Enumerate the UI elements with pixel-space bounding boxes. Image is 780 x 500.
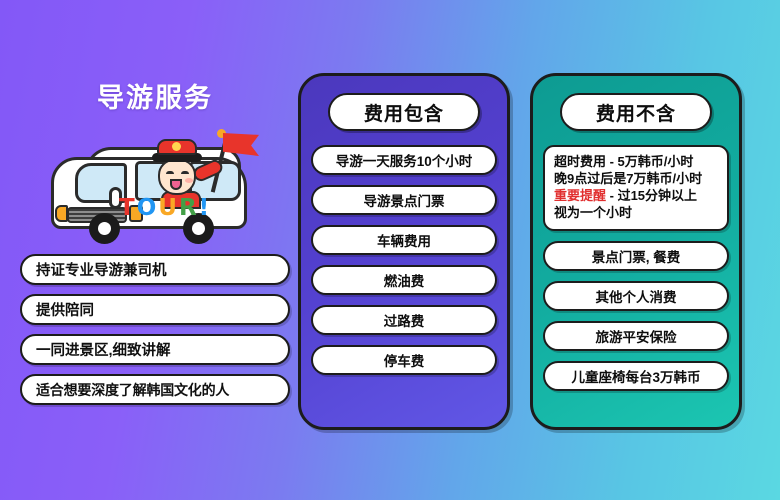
list-item[interactable]: 导游一天服务10个小时 — [311, 145, 497, 175]
list-item[interactable]: 持证专业导游兼司机 — [20, 254, 290, 285]
important-alert-label: 重要提醒 — [554, 188, 606, 203]
tour-letter-0: T — [119, 195, 137, 221]
tour-letter-2: U — [158, 195, 179, 221]
tour-letter-1: O — [137, 195, 159, 221]
tour-letter-3: R — [179, 195, 199, 221]
card-heading-excluded: 费用不含 — [560, 93, 712, 131]
fees-included-card: 费用包含 导游一天服务10个小时 导游景点门票 车辆费用 燃油费 过路费 停车费 — [298, 73, 510, 430]
list-item[interactable]: 停车费 — [311, 345, 497, 375]
list-item[interactable]: 导游景点门票 — [311, 185, 497, 215]
guide-feature-list: 持证专业导游兼司机 提供陪同 一同进景区,细致讲解 适合想要深度了解韩国文化的人 — [20, 254, 290, 414]
tour-wordmark: TOUR! — [119, 195, 211, 221]
note-line-2: 晚9点过后是7万韩币/小时 — [554, 170, 719, 187]
list-item[interactable]: 旅游平安保险 — [543, 321, 729, 351]
driver-eye-left — [166, 171, 174, 174]
list-item[interactable]: 儿童座椅每台3万韩币 — [543, 361, 729, 391]
note-line-1: 超时费用 - 5万韩币/小时 — [554, 153, 719, 170]
list-item[interactable]: 过路费 — [311, 305, 497, 335]
tour-bus-illustration: TOUR! — [43, 121, 273, 246]
card-heading-included: 费用包含 — [328, 93, 480, 131]
list-item[interactable]: 适合想要深度了解韩国文化的人 — [20, 374, 290, 405]
page-title: 导游服务 — [97, 76, 213, 115]
fees-excluded-card: 费用不含 超时费用 - 5万韩币/小时 晚9点过后是7万韩币/小时 重要提醒 -… — [530, 73, 742, 430]
list-item[interactable]: 燃油费 — [311, 265, 497, 295]
list-item[interactable]: 车辆费用 — [311, 225, 497, 255]
note-line-4: 视为一个小时 — [554, 204, 719, 221]
driver-cheek — [185, 178, 193, 183]
list-item[interactable]: 一同进景区,细致讲解 — [20, 334, 290, 365]
note-line-3-rest: - 过15分钟以上 — [606, 188, 697, 203]
overtime-fee-note[interactable]: 超时费用 - 5万韩币/小时 晚9点过后是7万韩币/小时 重要提醒 - 过15分… — [543, 145, 729, 231]
bus-wheel-front — [89, 213, 120, 244]
driver-eye-right — [181, 171, 189, 174]
list-item[interactable]: 景点门票, 餐费 — [543, 241, 729, 271]
list-item[interactable]: 提供陪同 — [20, 294, 290, 325]
guide-service-panel: 导游服务 TOUR! 持证专业导游兼司机 提供陪 — [20, 72, 290, 427]
bus-headlight-left-icon — [55, 205, 68, 222]
note-line-3: 重要提醒 - 过15分钟以上 — [554, 187, 719, 204]
driver-hat-badge-icon — [172, 142, 181, 151]
tour-letter-4: ! — [199, 195, 212, 221]
list-item[interactable]: 其他个人消费 — [543, 281, 729, 311]
